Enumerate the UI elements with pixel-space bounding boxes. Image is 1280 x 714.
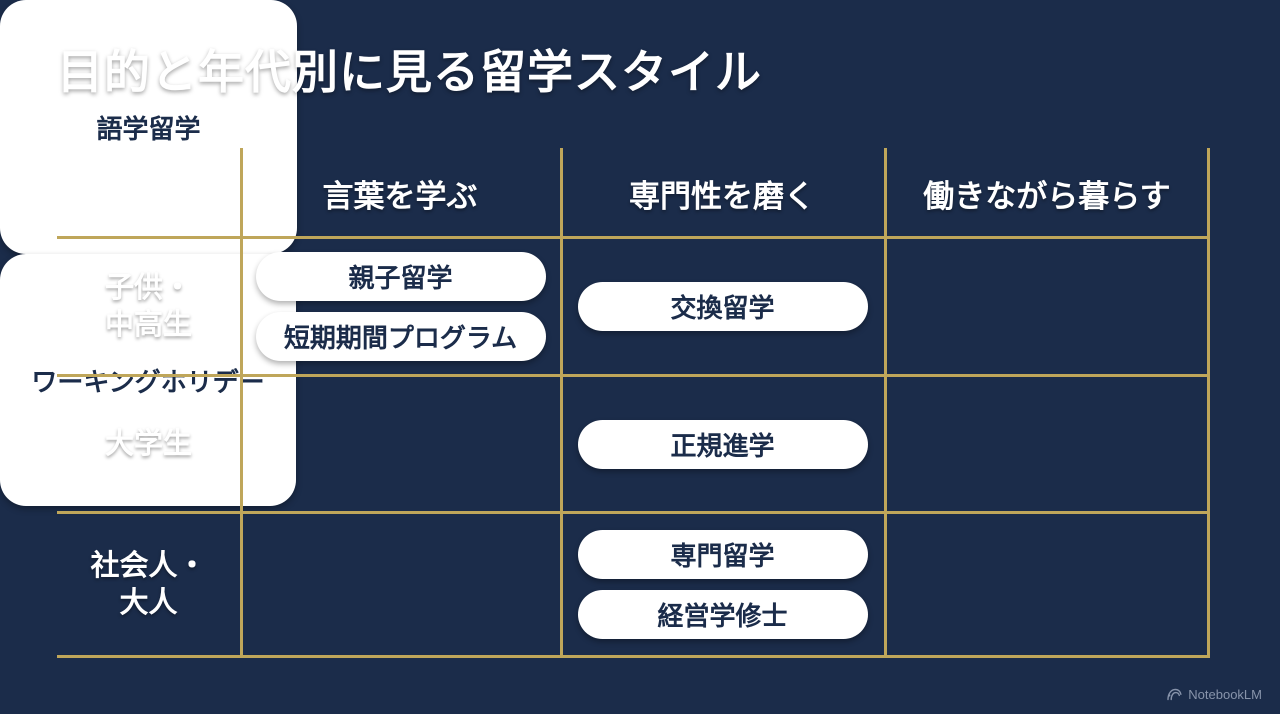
column-header-work: 働きながら暮らす — [884, 160, 1210, 226]
row-header-kids-line2: 中高生 — [105, 307, 192, 343]
tag-tanki-program[interactable]: 短期期間プログラム — [256, 312, 546, 361]
tag-senmon-ryugaku[interactable]: 専門留学 — [578, 530, 868, 579]
row-header-university: 大学生 — [57, 377, 240, 511]
notebooklm-logo-icon — [1167, 688, 1182, 701]
tag-oyako-ryugaku[interactable]: 親子留学 — [256, 252, 546, 301]
row-header-university-line1: 大学生 — [105, 426, 192, 462]
page-title: 目的と年代別に見る留学スタイル — [57, 36, 762, 102]
row-header-kids-line1: 子供・ — [105, 270, 192, 306]
grid-hline-bottom — [57, 655, 1210, 658]
cell-university-specialty: 正規進学 — [564, 377, 881, 511]
row-header-adult: 社会人・ 大人 — [57, 514, 240, 655]
tag-seiki-shingaku[interactable]: 正規進学 — [578, 420, 868, 469]
cell-kids-work-empty — [888, 239, 1206, 374]
slide-canvas: 目的と年代別に見る留学スタイル 言葉を学ぶ 専門性を磨く 働きながら暮らす 子供… — [0, 0, 1280, 714]
row-header-adult-line1: 社会人・ — [90, 548, 206, 584]
notebooklm-watermark: NotebookLM — [1167, 687, 1262, 702]
tag-kokan-ryugaku[interactable]: 交換留学 — [578, 282, 868, 331]
cell-kids-language: 親子留学 短期期間プログラム — [244, 239, 557, 374]
row-header-kids: 子供・ 中高生 — [57, 239, 240, 374]
row-header-adult-line2: 大人 — [119, 585, 177, 621]
notebooklm-label: NotebookLM — [1188, 687, 1262, 702]
cell-kids-specialty: 交換留学 — [564, 239, 881, 374]
column-header-language: 言葉を学ぶ — [240, 160, 560, 226]
cell-adult-specialty: 専門留学 経営学修士 — [564, 514, 881, 655]
tag-keiei-gaku-shushi[interactable]: 経営学修士 — [578, 590, 868, 639]
column-header-specialty: 専門性を磨く — [560, 160, 884, 226]
